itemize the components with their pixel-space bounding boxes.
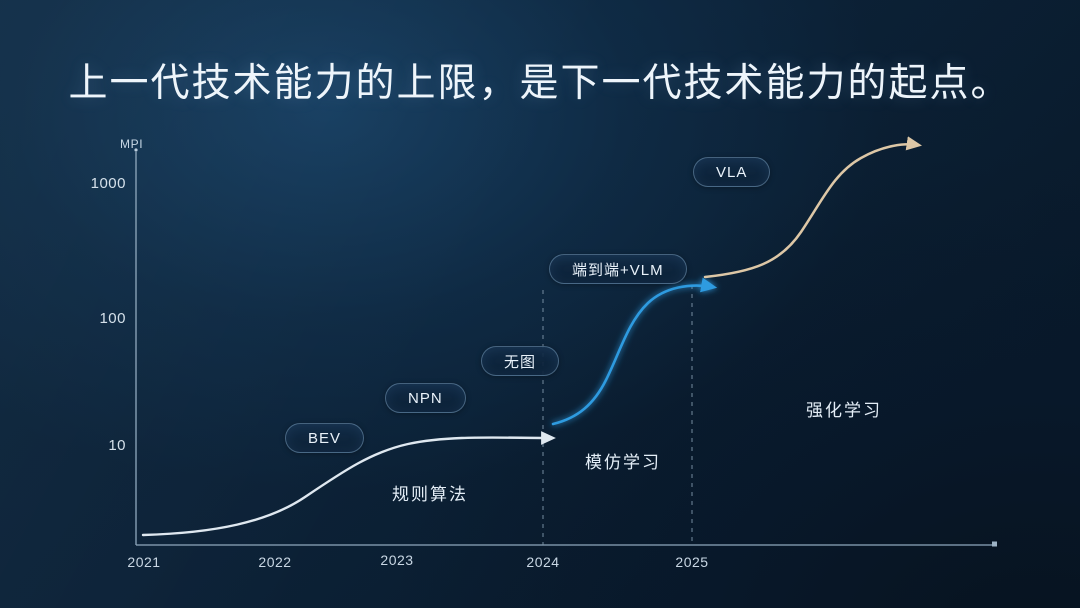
y-tick-100: 100 [66,310,126,327]
x-tick-2025: 2025 [657,554,727,570]
badge-mapless[interactable]: 无图 [481,346,559,376]
badge-npn[interactable]: NPN [385,383,466,413]
y-axis-unit-label: MPI [120,137,143,151]
y-tick-1000: 1000 [66,175,126,192]
badge-vla[interactable]: VLA [693,157,770,187]
phase-label-imitation-learning: 模仿学习 [585,448,661,473]
x-tick-2024: 2024 [508,554,578,570]
slide-root: 上一代技术能力的上限，是下一代技术能力的起点。 [0,0,1080,608]
curve-imitation-learning [553,286,713,424]
x-tick-2021: 2021 [109,554,179,570]
badge-bev[interactable]: BEV [285,423,364,453]
chart-svg [0,0,1080,608]
y-tick-10: 10 [66,437,126,454]
phase-label-rule-based: 规则算法 [392,480,468,505]
x-axis-cap [992,542,997,547]
x-tick-2022: 2022 [240,554,310,570]
chart-canvas [0,0,1080,608]
badge-e2e-vlm[interactable]: 端到端+VLM [549,254,687,284]
phase-label-reinforcement-learning: 强化学习 [806,396,882,421]
x-tick-2023: 2023 [362,552,432,568]
